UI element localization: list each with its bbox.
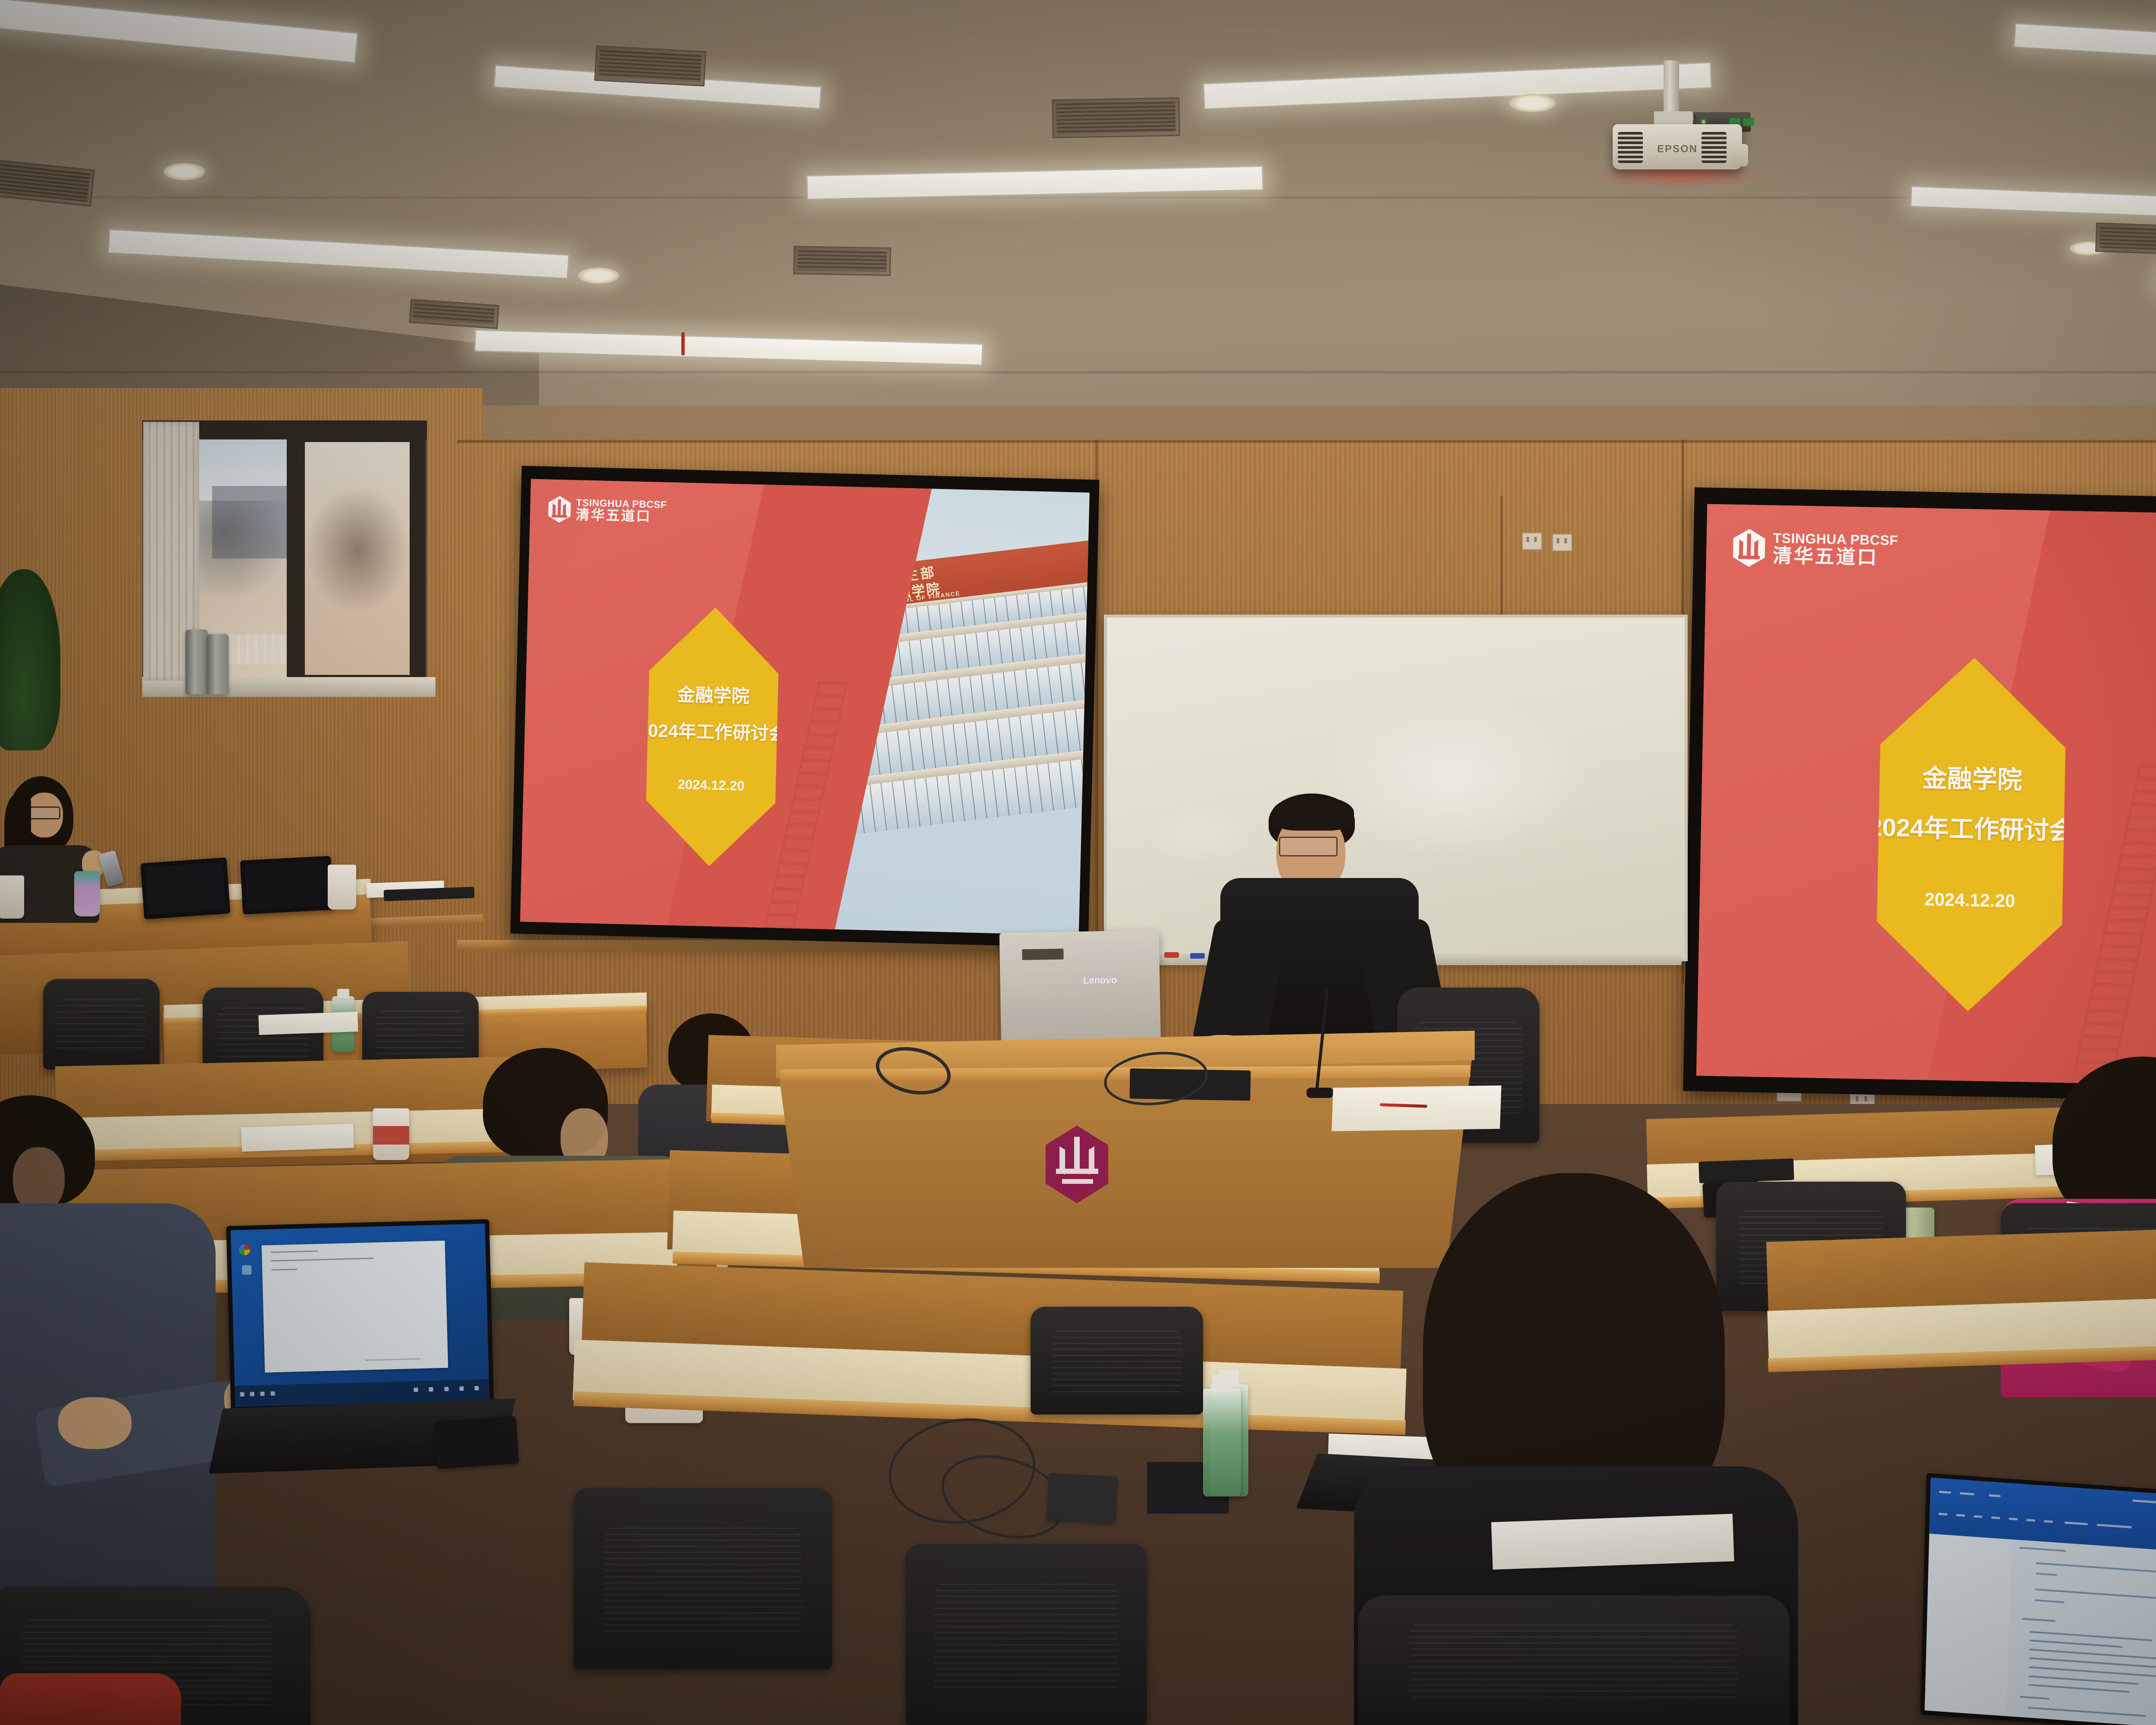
microphone-base [1307, 1088, 1333, 1098]
face [13, 1147, 65, 1212]
cup-sleeve [373, 1126, 409, 1145]
chair[interactable] [1031, 1307, 1203, 1414]
laptop-display [145, 862, 226, 915]
left-screen[interactable]: 中国人民银行 研究生部 清华大学五道口金融学院 TSINGHUA UNIVERS… [510, 466, 1099, 947]
whiteboard-marker-blue[interactable] [1190, 953, 1205, 959]
ceiling-downlight [578, 267, 619, 284]
hand-left [58, 1397, 132, 1449]
paper-sheet[interactable] [1491, 1514, 1734, 1569]
slide-date: 2024.12.20 [677, 777, 745, 794]
laptop-display [1924, 1477, 2156, 1725]
slide-date: 2024.12.20 [1924, 889, 2015, 911]
lecture-hall-photo: EPSON [0, 0, 2156, 1725]
chair[interactable] [43, 979, 160, 1069]
right-screen[interactable]: 中国人民银行 研究生部 清华大学五道口金融学院 TSINGHUA UNIVERS… [1683, 487, 2156, 1108]
right-screen-slide: 中国人民银行 研究生部 清华大学五道口金融学院 TSINGHUA UNIVERS… [1696, 504, 2156, 1092]
hvac-vent [1052, 97, 1180, 138]
slide-logo: TSINGHUA PBCSF 清华五道口 [1733, 529, 1898, 570]
slide-logo-text: TSINGHUA PBCSF 清华五道口 [576, 497, 667, 524]
slide-logo: TSINGHUA PBCSF 清华五道口 [548, 496, 667, 526]
document-page[interactable] [2007, 1539, 2156, 1725]
laptop-screen[interactable] [240, 856, 333, 915]
travel-tumbler[interactable] [74, 871, 100, 916]
power-outlet[interactable] [1552, 534, 1572, 551]
coffee-cup[interactable] [328, 865, 356, 910]
slide-title-line2: 2024年工作研讨会 [1868, 807, 2075, 847]
laptop-display [231, 1223, 490, 1407]
ceiling-downlight [164, 163, 205, 180]
slide-title-line1: 金融学院 [677, 680, 750, 708]
ceiling-seam [0, 371, 2156, 373]
projector-mount-pole [1664, 60, 1679, 116]
logo-cn-text: 清华五道口 [1773, 546, 1898, 568]
status-led-icon [1702, 120, 1705, 124]
bottle-cap [337, 989, 349, 998]
hvac-vent [594, 45, 706, 86]
slide-title-line2: 2024年工作研讨会 [638, 715, 787, 745]
chair[interactable] [906, 1544, 1147, 1725]
pbcsf-logo-mark-icon [548, 496, 571, 523]
bottle-cap [1212, 1375, 1232, 1392]
coffee-cup[interactable] [0, 875, 24, 919]
chrome-icon[interactable] [238, 1244, 250, 1255]
whiteboard-marker-red[interactable] [1164, 952, 1179, 958]
water-bottle[interactable] [1203, 1389, 1241, 1496]
pbcsf-logo-mark-icon [1733, 529, 1765, 567]
coffee-cup-red[interactable] [373, 1108, 409, 1160]
slide-logo-text: TSINGHUA PBCSF 清华五道口 [1773, 531, 1899, 568]
red-bag [0, 1673, 181, 1725]
slide-title-line1: 金融学院 [1922, 758, 2023, 796]
laptop-screen[interactable] [141, 857, 231, 919]
laptop-screen[interactable] [226, 1219, 494, 1411]
projector-brand-label: EPSON [1613, 143, 1742, 155]
sprinkler-head [681, 332, 685, 355]
hvac-vent [793, 246, 891, 276]
hvac-vent [2095, 223, 2156, 255]
lenovo-brand-label: Lenovo [1083, 974, 1117, 986]
tree-outside-window [306, 485, 410, 615]
thermos-flask[interactable] [207, 634, 229, 694]
logo-cn-text: 清华五道口 [576, 508, 667, 524]
left-screen-slide: 中国人民银行 研究生部 清华大学五道口金融学院 TSINGHUA UNIVERS… [520, 479, 1090, 935]
laptop-display [244, 860, 329, 910]
hair-top [1272, 796, 1354, 831]
document-window[interactable] [261, 1241, 448, 1373]
ceiling-downlight [1509, 94, 1556, 112]
open-notebook[interactable] [1332, 1079, 1501, 1137]
eyeglasses [28, 806, 60, 819]
power-outlet[interactable] [1522, 533, 1542, 550]
laptop-screen[interactable] [1920, 1473, 2156, 1725]
chair[interactable] [573, 1488, 832, 1669]
eyeglasses [1279, 837, 1338, 856]
lenovo-monitor[interactable]: Lenovo [1000, 930, 1161, 1054]
wall-panel-seam [457, 440, 2156, 443]
projector-body: EPSON [1613, 124, 1742, 169]
smartphone-on-desk[interactable] [434, 1416, 519, 1469]
window-pane [302, 442, 410, 675]
desktop-icon[interactable] [241, 1265, 251, 1275]
chair[interactable] [1358, 1596, 1789, 1725]
paper-sheet[interactable] [258, 1012, 358, 1035]
ceiling-seam [0, 196, 2156, 199]
power-adapter-black[interactable] [1047, 1473, 1118, 1524]
thermos-flask[interactable] [185, 630, 208, 694]
